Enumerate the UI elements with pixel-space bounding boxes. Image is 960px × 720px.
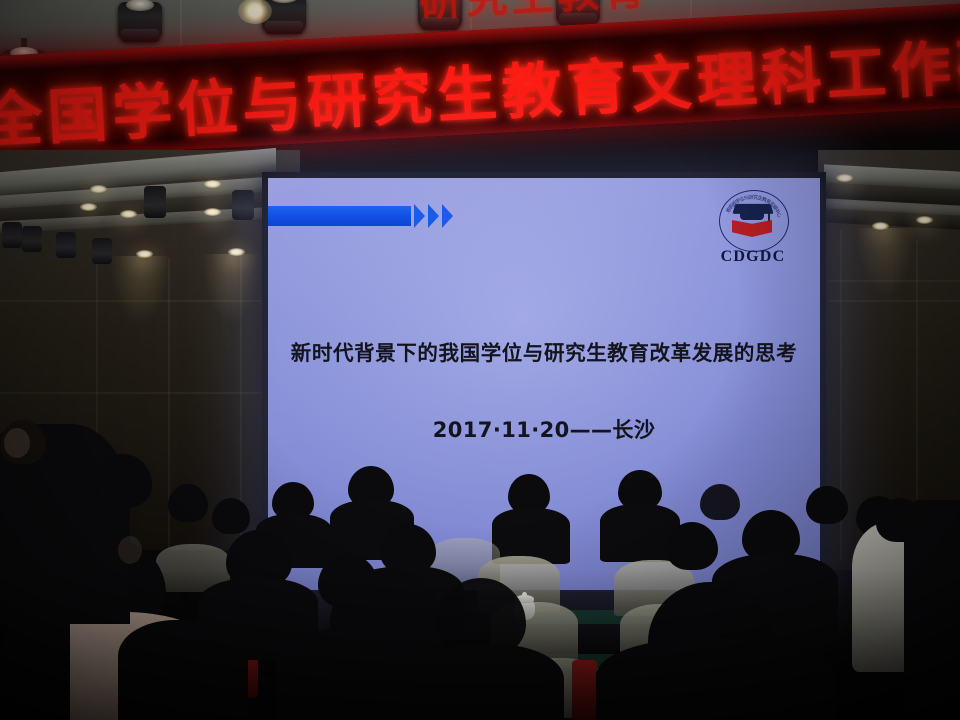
- wall-seam: [840, 230, 842, 560]
- track-light: [92, 238, 112, 264]
- chevron-right-icon: [442, 204, 453, 228]
- teacup: [122, 593, 139, 608]
- track-light: [232, 190, 254, 220]
- wall-light-pool: [856, 228, 916, 298]
- wall-seam: [96, 258, 98, 548]
- track-light: [56, 232, 76, 258]
- stage-spotlight: [118, 2, 162, 42]
- downlight: [836, 174, 853, 182]
- slide-title: 新时代背景下的我国学位与研究生教育改革发展的思考: [268, 336, 820, 366]
- attendee-hair: [0, 600, 70, 720]
- chair-cover: [490, 602, 578, 660]
- attendee-head-foreground: [648, 582, 772, 686]
- teacup: [186, 678, 220, 708]
- foreground-shadow: [0, 570, 960, 720]
- navy-garment: [618, 638, 814, 720]
- wall-seam: [828, 300, 960, 302]
- pink-puffy-jacket: [4, 612, 228, 720]
- conference-hall-photo: 研究生教育 全国学位与研究生教育文理科工作研讨会暨学术: [0, 0, 960, 720]
- cdgdc-logo: CDGDC 教育部学位与研究生教育发展中心: [710, 190, 796, 272]
- logo-ring-text: 教育部学位与研究生教育发展中心: [719, 191, 787, 249]
- teacup: [650, 653, 671, 672]
- teacup: [514, 601, 535, 620]
- wall-light-pool: [202, 254, 262, 324]
- wall-seam: [0, 392, 300, 394]
- attendee-head-foreground: [62, 540, 166, 632]
- logo-acronym: CDGDC: [710, 248, 796, 266]
- track-light: [2, 222, 22, 248]
- garment-brand-logo: CAMEL: [738, 662, 773, 672]
- downlight: [90, 185, 107, 193]
- downlight: [204, 180, 221, 188]
- attendee-body-foreground: [118, 620, 248, 720]
- slide-date-location: 2017·11·20——长沙: [268, 414, 820, 444]
- thermos-bottle: [236, 646, 258, 698]
- chair-cover: [508, 658, 604, 718]
- chair-cover: [156, 544, 230, 592]
- downlight: [916, 216, 933, 224]
- attendee-body-foreground: [596, 638, 836, 720]
- table-runner: [486, 610, 666, 624]
- attendee-body-foreground: [276, 624, 502, 720]
- slide-accent-bar: [268, 206, 411, 226]
- projection-screen: CDGDC 教育部学位与研究生教育发展中心 新时代背景下的我国学位与研究生教育改…: [268, 178, 820, 590]
- chair-cover: [620, 604, 706, 662]
- chevron-right-icon: [428, 204, 439, 228]
- wall-light-pool: [110, 256, 170, 326]
- downlight: [80, 203, 97, 211]
- thermos-bottle: [572, 660, 597, 720]
- downlight: [120, 210, 137, 218]
- attendee-body-foreground: [404, 644, 564, 720]
- wall-seam: [916, 240, 918, 560]
- track-light: [144, 186, 166, 218]
- chevron-right-icon: [414, 204, 425, 228]
- teacup: [512, 659, 533, 678]
- table-runner: [500, 654, 700, 668]
- downlight: [204, 208, 221, 216]
- track-light: [22, 226, 42, 252]
